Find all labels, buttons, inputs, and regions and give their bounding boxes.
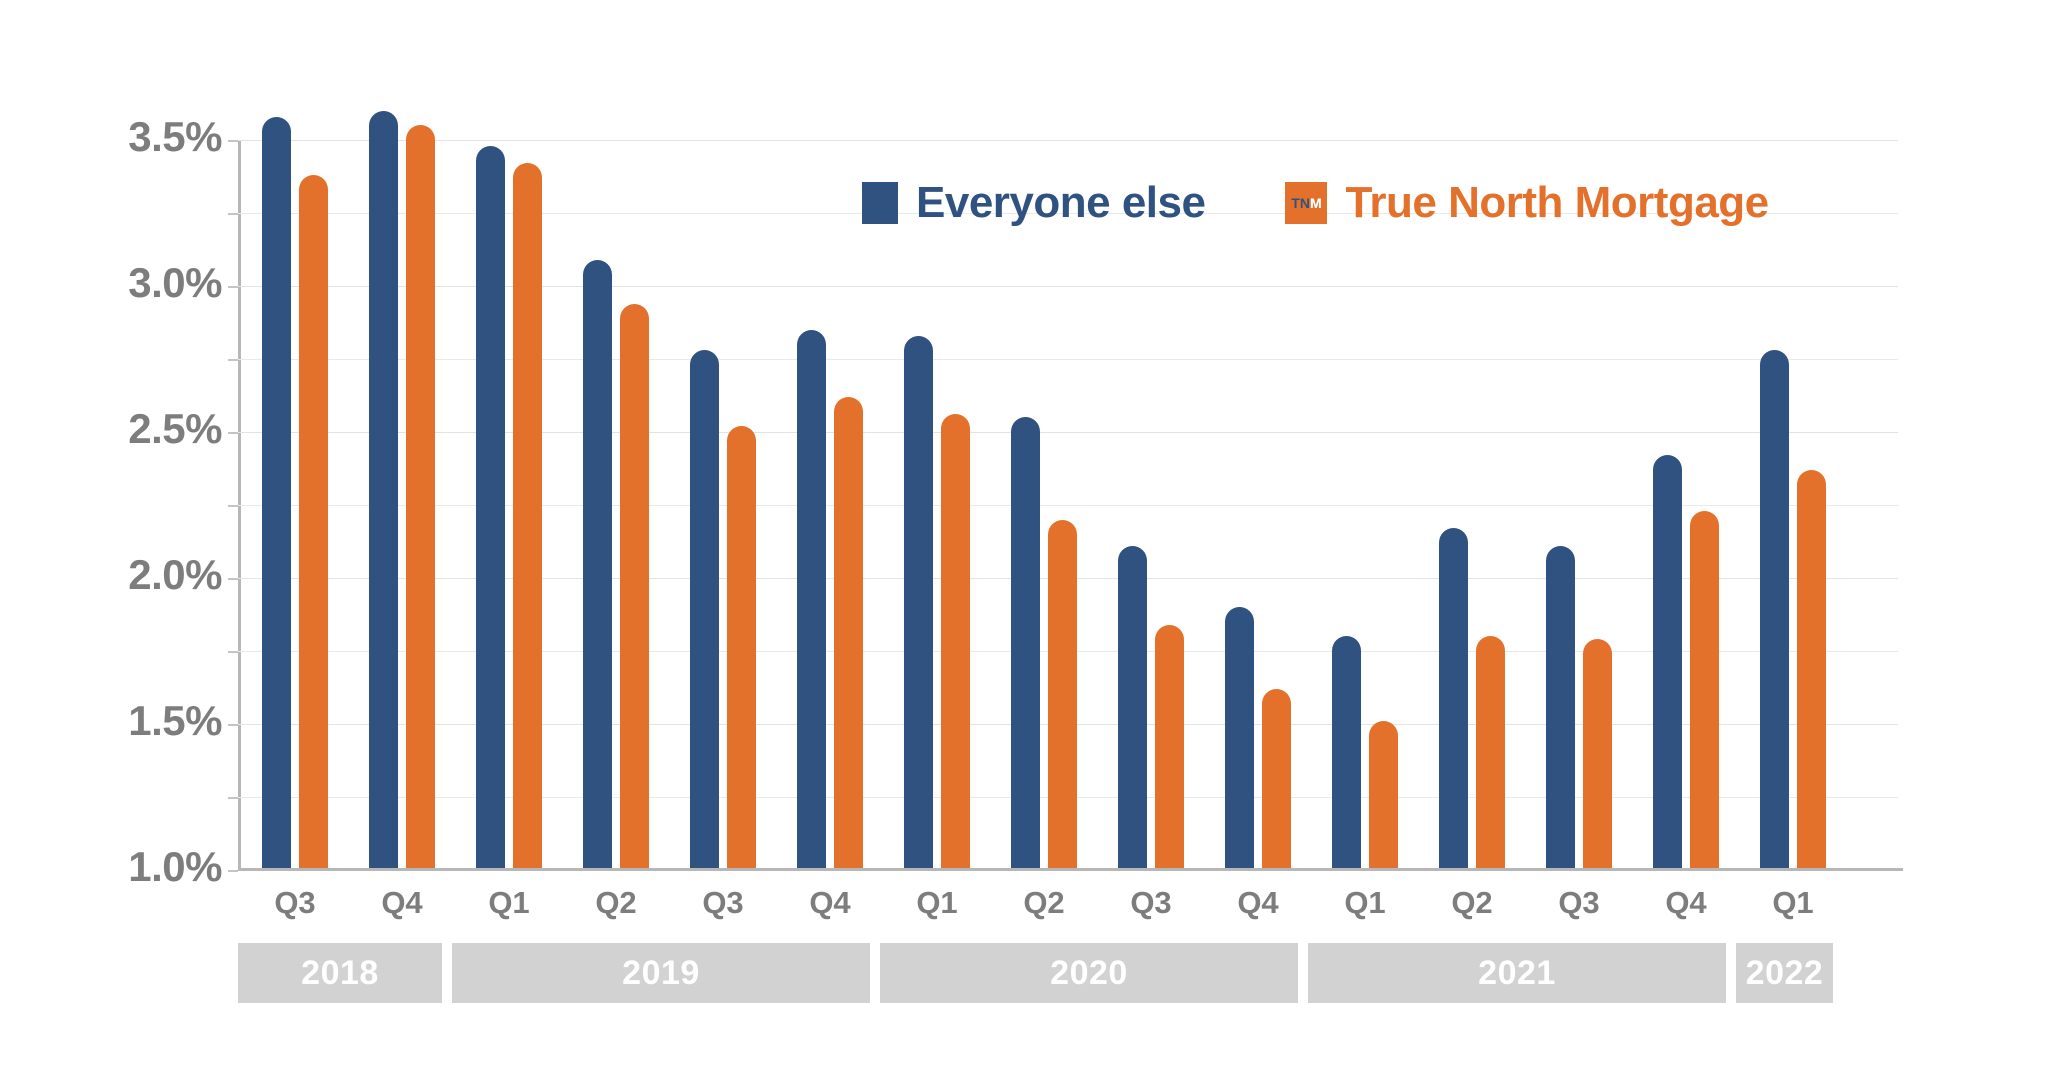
bar-everyone-else[interactable] [797,330,826,870]
bar-group [476,140,546,870]
bar-group [690,140,760,870]
x-axis-label-12: Q3 [1529,885,1629,921]
bar-true-north-mortgage[interactable] [941,414,970,870]
tnm-logo-tn-text: TN [1291,196,1310,210]
bar-everyone-else[interactable] [1225,607,1254,870]
bar-everyone-else[interactable] [904,336,933,870]
year-band-2020: 2020 [880,943,1298,1003]
bar-true-north-mortgage[interactable] [513,163,542,870]
bar-everyone-else[interactable] [1546,546,1575,870]
legend-label-true-north-mortgage: True North Mortgage [1345,178,1768,228]
year-band-2022: 2022 [1736,943,1833,1003]
x-axis-label-7: Q2 [994,885,1094,921]
y-axis-tick [228,797,238,799]
bar-everyone-else[interactable] [262,117,291,870]
bar-everyone-else[interactable] [476,146,505,870]
y-axis-tick [228,724,238,726]
bar-everyone-else[interactable] [1118,546,1147,870]
bar-true-north-mortgage[interactable] [620,304,649,870]
year-band-label: 2018 [301,954,379,993]
x-axis-label-3: Q2 [566,885,666,921]
year-band-label: 2019 [622,954,700,993]
y-axis-tick-label: 1.0% [0,843,222,891]
bar-group [1225,140,1295,870]
bar-group [1653,140,1723,870]
bar-true-north-mortgage[interactable] [834,397,863,870]
bar-group [1011,140,1081,870]
x-axis-label-11: Q2 [1422,885,1522,921]
legend-item-true-north-mortgage[interactable]: TNM True North Mortgage [1285,178,1768,228]
x-axis-label-10: Q1 [1315,885,1415,921]
y-axis-tick [228,578,238,580]
bar-true-north-mortgage[interactable] [1797,470,1826,870]
x-axis-label-2: Q1 [459,885,559,921]
y-axis-tick [228,359,238,361]
legend-swatch-icon [862,182,898,224]
year-band-2018: 2018 [238,943,442,1003]
bar-true-north-mortgage[interactable] [1048,520,1077,870]
x-axis-line [238,868,1903,871]
bar-group [904,140,974,870]
x-axis-label-9: Q4 [1208,885,1308,921]
bar-true-north-mortgage[interactable] [1583,639,1612,870]
bar-true-north-mortgage[interactable] [1369,721,1398,870]
y-axis-tick [228,140,238,142]
y-axis-tick [228,870,238,872]
bar-chart: 3.5%3.0%2.5%2.0%1.5%1.0% Q3Q4Q1Q2Q3Q4Q1Q… [0,0,2063,1080]
bar-everyone-else[interactable] [583,260,612,870]
x-axis-label-14: Q1 [1743,885,1843,921]
bar-group [583,140,653,870]
bar-group [1546,140,1616,870]
y-axis-tick [228,432,238,434]
bar-group [262,140,332,870]
x-axis-label-5: Q4 [780,885,880,921]
legend-label-everyone-else: Everyone else [916,178,1205,228]
y-axis-tick-label: 2.5% [0,405,222,453]
x-axis-label-4: Q3 [673,885,773,921]
y-axis-tick-label: 3.0% [0,259,222,307]
bar-everyone-else[interactable] [1653,455,1682,870]
y-axis-tick [228,505,238,507]
bar-true-north-mortgage[interactable] [1262,689,1291,870]
bar-group [369,140,439,870]
year-band-label: 2021 [1478,954,1556,993]
bar-group [1439,140,1509,870]
bar-everyone-else[interactable] [1332,636,1361,870]
tnm-logo-icon: TNM [1285,182,1327,224]
bar-true-north-mortgage[interactable] [1690,511,1719,870]
x-axis-label-8: Q3 [1101,885,1201,921]
bar-group [1760,140,1830,870]
bar-everyone-else[interactable] [1011,417,1040,870]
year-band-label: 2020 [1050,954,1128,993]
x-axis-label-6: Q1 [887,885,987,921]
bar-true-north-mortgage[interactable] [1155,625,1184,870]
bar-true-north-mortgage[interactable] [406,125,435,870]
bar-group [1332,140,1402,870]
bar-everyone-else[interactable] [1439,528,1468,870]
legend-item-everyone-else[interactable]: Everyone else [862,178,1205,228]
x-axis-label-0: Q3 [245,885,345,921]
bar-true-north-mortgage[interactable] [1476,636,1505,870]
bar-group [797,140,867,870]
plot-area [238,140,1898,870]
bar-true-north-mortgage[interactable] [727,426,756,870]
y-axis-tick-label: 3.5% [0,113,222,161]
year-band-label: 2022 [1746,954,1824,993]
bar-everyone-else[interactable] [690,350,719,870]
year-band-2019: 2019 [452,943,870,1003]
y-axis-tick-label: 1.5% [0,697,222,745]
y-axis-tick-label: 2.0% [0,551,222,599]
y-axis-tick [228,651,238,653]
y-axis-tick [228,213,238,215]
x-axis-label-13: Q4 [1636,885,1736,921]
y-axis-tick [228,286,238,288]
tnm-logo-m-text: M [1310,196,1322,210]
bar-true-north-mortgage[interactable] [299,175,328,870]
bar-group [1118,140,1188,870]
x-axis-label-1: Q4 [352,885,452,921]
bar-everyone-else[interactable] [1760,350,1789,870]
bar-everyone-else[interactable] [369,111,398,870]
year-band-2021: 2021 [1308,943,1726,1003]
chart-legend: Everyone else TNM True North Mortgage [862,178,1769,228]
